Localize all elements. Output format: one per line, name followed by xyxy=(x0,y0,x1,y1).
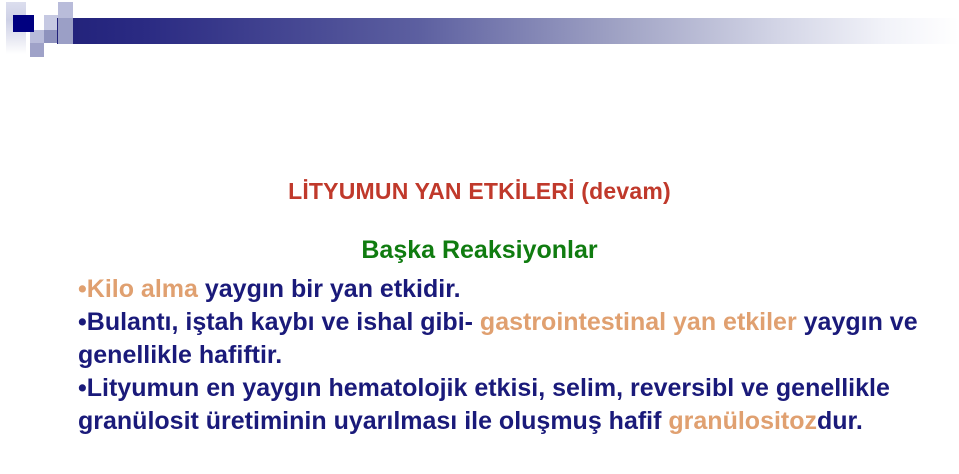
bullet-accent-mid: granülositoz xyxy=(668,407,817,435)
top-light-square-c-icon xyxy=(58,18,73,44)
dark-navy-square-icon xyxy=(13,15,34,32)
bullet-accent-mid: gastrointestinal yan etkiler xyxy=(480,308,797,336)
bullet-list: •Kilo alma yaygın bir yan etkidir. •Bula… xyxy=(78,273,948,438)
bullet-navy-mid: Bulantı, iştah kaybı ve ishal gibi- xyxy=(87,308,480,336)
bullet-navy-tail: dur. xyxy=(817,407,863,435)
bullet-marker-icon: • xyxy=(78,374,87,402)
bullet-marker-icon: • xyxy=(78,275,87,303)
header-gradient-bar xyxy=(57,18,959,44)
top-light-square-b-icon xyxy=(44,15,58,30)
top-light-square-a-icon xyxy=(58,2,73,18)
slide-subtitle: Başka Reaksiyonlar xyxy=(0,236,959,265)
bullet-navy-mid: yaygın bir yan etkidir. xyxy=(198,275,461,303)
slide-content-area: LİTYUMUN YAN ETKİLERİ (devam) Başka Reak… xyxy=(0,70,959,474)
mid-light-square-b-icon xyxy=(30,43,44,57)
bullet-item: •Bulantı, iştah kaybı ve ishal gibi- gas… xyxy=(78,306,948,372)
slide-header-decoration xyxy=(0,0,959,70)
bullet-item: •Kilo alma yaygın bir yan etkidir. xyxy=(78,273,948,306)
bullet-marker-icon: • xyxy=(78,308,87,336)
bullet-accent-lead: Kilo alma xyxy=(87,275,198,303)
slide-title: LİTYUMUN YAN ETKİLERİ (devam) xyxy=(0,178,959,205)
mid-light-square-c-icon xyxy=(44,30,58,43)
bullet-item: •Lityumun en yaygın hematolojik etkisi, … xyxy=(78,372,948,438)
